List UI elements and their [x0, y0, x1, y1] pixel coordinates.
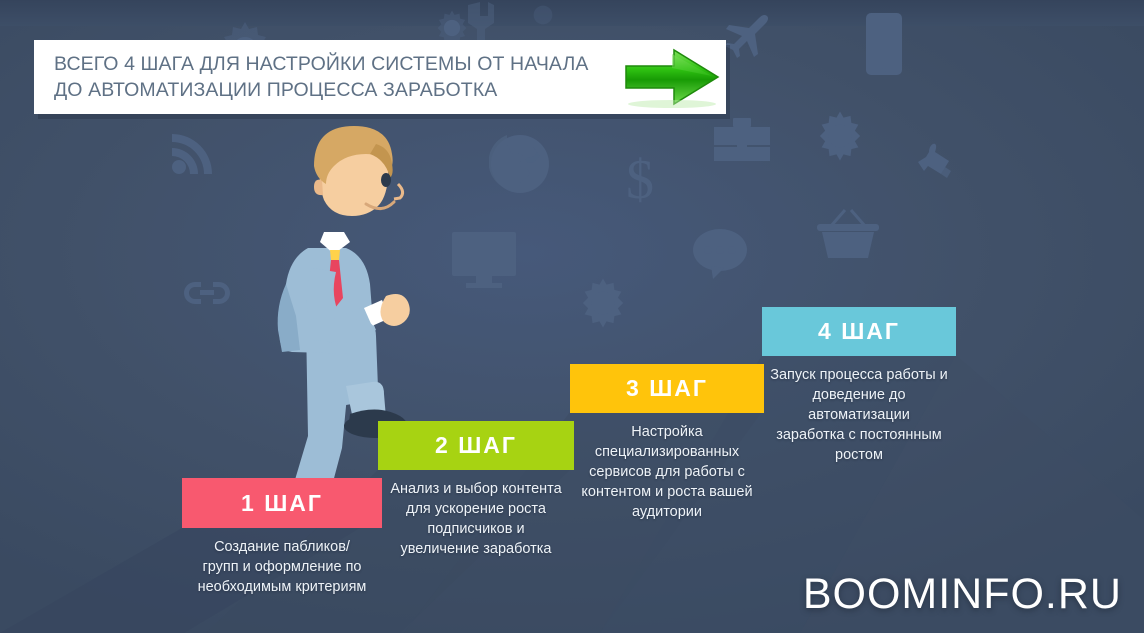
link-chain-icon	[180, 278, 234, 308]
step-3-description: Настройка специализированных сервисов дл…	[570, 422, 764, 522]
briefcase-icon	[714, 118, 770, 166]
gear-icon	[528, 0, 558, 30]
dollar-sign-icon: $	[622, 150, 658, 208]
chat-bubble-icon	[693, 228, 749, 280]
rss-icon	[170, 128, 218, 176]
step-1-description: Создание пабликов/ групп и оформление по…	[182, 537, 382, 597]
gear-icon	[575, 275, 631, 331]
shopping-basket-icon	[817, 208, 879, 260]
step-4-label: 4 ШАГ	[818, 318, 900, 345]
step-4-bar[interactable]: 4 ШАГ	[762, 307, 956, 356]
infographic-canvas: $	[0, 0, 1144, 633]
smartphone-icon	[866, 13, 902, 75]
airplane-icon	[723, 14, 771, 62]
step-1-bar[interactable]: 1 ШАГ	[182, 478, 382, 528]
step-3[interactable]: 3 ШАГ Настройка специализированных серви…	[570, 364, 764, 522]
thumbs-up-icon	[913, 140, 965, 192]
step-2-label: 2 ШАГ	[435, 432, 517, 459]
step-2-bar[interactable]: 2 ШАГ	[378, 421, 574, 470]
gear-icon	[812, 108, 868, 164]
step-4[interactable]: 4 ШАГ Запуск процесса работы и доведение…	[762, 307, 956, 465]
step-1-label: 1 ШАГ	[241, 490, 323, 517]
page-title: ВСЕГО 4 ШАГА ДЛЯ НАСТРОЙКИ СИСТЕМЫ ОТ НА…	[34, 51, 618, 103]
header-banner: ВСЕГО 4 ШАГА ДЛЯ НАСТРОЙКИ СИСТЕМЫ ОТ НА…	[34, 40, 726, 114]
globe-icon	[489, 133, 551, 195]
step-1[interactable]: 1 ШАГ Создание пабликов/ групп и оформле…	[182, 478, 382, 597]
step-4-description: Запуск процесса работы и доведение до ав…	[762, 365, 956, 465]
step-3-bar[interactable]: 3 ШАГ	[570, 364, 764, 413]
green-arrow-right-icon	[618, 40, 726, 114]
step-3-label: 3 ШАГ	[626, 375, 708, 402]
svg-text:$: $	[626, 150, 654, 208]
step-2[interactable]: 2 ШАГ Анализ и выбор контента для ускоре…	[378, 421, 574, 559]
site-watermark: BOOMINFO.RU	[803, 570, 1122, 619]
step-2-description: Анализ и выбор контента для ускорение ро…	[378, 479, 574, 559]
